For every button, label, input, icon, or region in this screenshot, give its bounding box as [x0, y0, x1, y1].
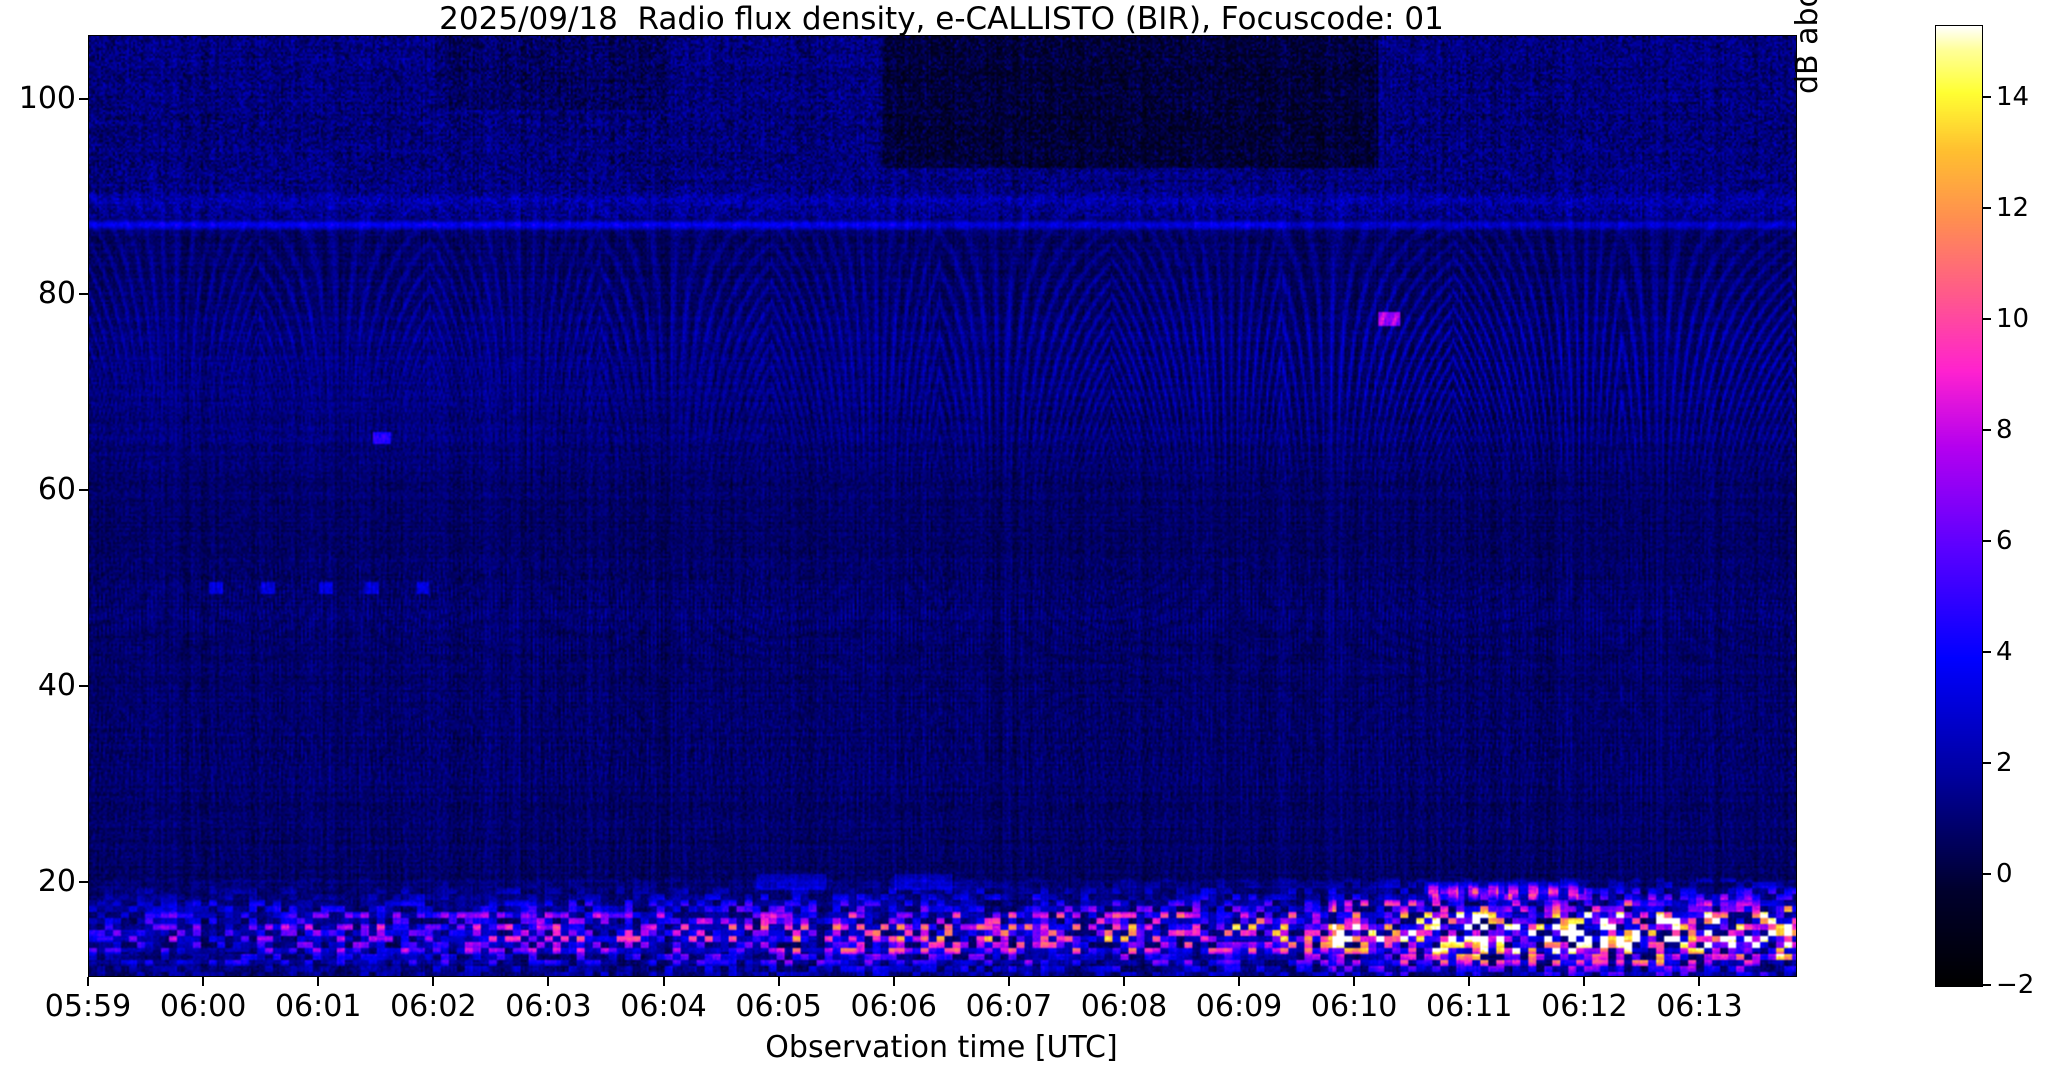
- x-tick-mark: [202, 977, 204, 986]
- figure-title: 2025/09/18 Radio flux density, e-CALLIST…: [88, 2, 1795, 36]
- figure-root: 2025/09/18 Radio flux density, e-CALLIST…: [0, 0, 2066, 1067]
- colorbar-tick-label: 14: [1996, 81, 2029, 113]
- colorbar-tick-mark: [1982, 318, 1991, 320]
- x-axis-label: Observation time [UTC]: [88, 1029, 1795, 1067]
- colorbar-tick-mark: [1982, 540, 1991, 542]
- x-tick-mark: [1583, 977, 1585, 986]
- x-tick-mark: [1698, 977, 1700, 986]
- colorbar-tick-mark: [1982, 207, 1991, 209]
- colorbar-tick-mark: [1982, 873, 1991, 875]
- x-tick-mark: [778, 977, 780, 986]
- colorbar-tick-group: 14121086420−2: [1982, 25, 2062, 987]
- colorbar-label: dB above background: [1786, 0, 1830, 280]
- y-tick-mark: [79, 685, 88, 687]
- x-tick-mark: [663, 977, 665, 986]
- colorbar-tick-label: 8: [1996, 414, 2013, 446]
- colorbar-tick-label: 2: [1996, 747, 2013, 779]
- colorbar-tick-mark: [1982, 429, 1991, 431]
- y-tick-mark: [79, 98, 88, 100]
- colorbar-tick-mark: [1982, 762, 1991, 764]
- colorbar-tick-mark: [1982, 984, 1991, 986]
- colorbar-tick-label: 12: [1996, 192, 2029, 224]
- colorbar-tick-label: 0: [1996, 858, 2013, 890]
- y-tick-mark: [79, 881, 88, 883]
- x-tick-mark: [1468, 977, 1470, 986]
- spectrogram-image: [89, 36, 1796, 976]
- y-tick-label: 40: [38, 668, 76, 704]
- x-tick-mark: [1008, 977, 1010, 986]
- colorbar-gradient: [1936, 26, 1982, 986]
- colorbar-tick-label: 4: [1996, 636, 2013, 668]
- x-tick-mark: [547, 977, 549, 986]
- y-tick-label: 60: [38, 472, 76, 508]
- x-tick-mark: [1353, 977, 1355, 986]
- colorbar-tick-mark: [1982, 96, 1991, 98]
- x-tick-mark: [1123, 977, 1125, 986]
- colorbar-tick-mark: [1982, 651, 1991, 653]
- y-tick-label: 80: [38, 276, 76, 312]
- x-axis: 05:5906:0006:0106:0206:0306:0406:0506:06…: [88, 977, 1797, 1067]
- y-tick-mark: [79, 293, 88, 295]
- y-tick-label: 20: [38, 864, 76, 900]
- y-tick-label: 100: [19, 81, 76, 117]
- y-axis: Frequency [MHz] 10080604020: [0, 35, 88, 977]
- colorbar-tick-label: 6: [1996, 525, 2013, 557]
- x-tick-mark: [317, 977, 319, 986]
- y-tick-mark: [79, 489, 88, 491]
- colorbar-tick-label: 10: [1996, 303, 2029, 335]
- x-tick-mark: [1238, 977, 1240, 986]
- spectrogram-plot-area[interactable]: [88, 35, 1797, 977]
- x-tick-mark: [893, 977, 895, 986]
- colorbar[interactable]: [1935, 25, 1983, 987]
- x-tick-mark: [87, 977, 89, 986]
- colorbar-tick-label: −2: [1996, 969, 2034, 1001]
- x-tick-label: 06:13: [1629, 989, 1769, 1025]
- x-tick-mark: [432, 977, 434, 986]
